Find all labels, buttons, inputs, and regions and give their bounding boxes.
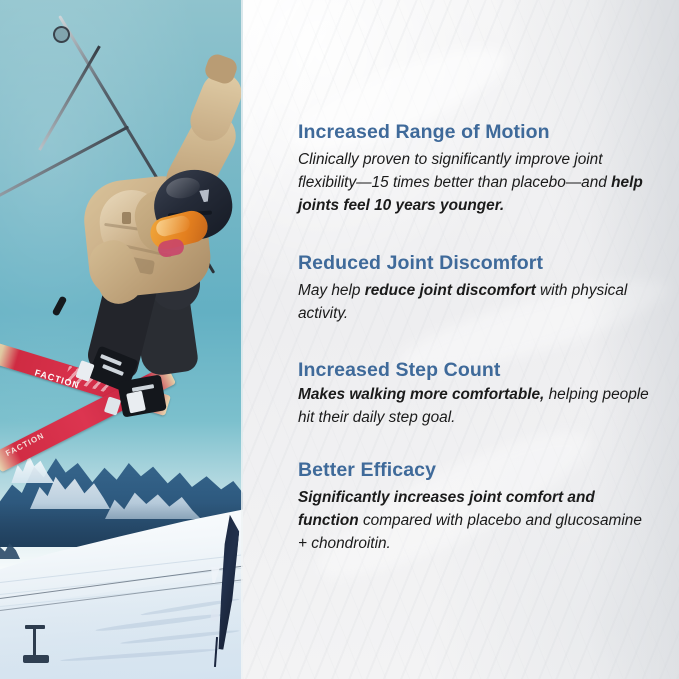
benefit-body: May help reduce joint discomfort with ph… [298,279,653,325]
benefit-line-1-bold: Significantly increases joint comfort an… [298,489,595,506]
skier-photo: FACTION FACTION [0,0,243,679]
benefit-line-1: Clinically proven to significantly impro… [298,151,603,168]
benefit-heading: Better Efficacy [298,458,653,482]
ski-pole-lower [38,45,101,150]
skier-figure: FACTION FACTION [0,0,243,500]
ski-pole-basket [51,24,73,46]
benefit-body: Significantly increases joint comfort an… [298,486,653,555]
benefit-heading: Reduced Joint Discomfort [298,251,653,275]
lift-pylon-base [23,655,49,663]
benefit-item-better-efficacy: Better Efficacy Significantly increases … [298,458,653,555]
banner-logo-mark [210,609,220,622]
benefit-line-2-bold: function [298,512,359,529]
lift-pylon [33,627,36,657]
benefits-panel: Increased Range of Motion Clinically pro… [243,0,679,679]
benefit-text-lead: May help [298,282,365,299]
benefit-text-tail: with [536,282,568,299]
benefit-body: Clinically proven to significantly impro… [298,148,653,217]
benefit-line-1-bold: Makes walking more comfortable, [298,386,544,403]
benefit-body: Makes walking more comfortable, helping … [298,383,653,429]
benefit-line-2-tail: compared with placebo and [359,512,552,529]
benefit-item-joint-discomfort: Reduced Joint Discomfort May help reduce… [298,251,653,325]
jacket-badge [122,212,131,224]
marketing-benefits-graphic: FACTION FACTION [0,0,679,679]
panel-edge-shading [589,0,679,679]
benefit-text-bold: reduce joint discomfort [365,282,536,299]
benefit-heading: Increased Range of Motion [298,120,653,144]
benefit-heading: Increased Step Count [298,358,653,382]
benefit-item-step-count: Increased Step Count Makes walking more … [298,358,653,429]
ski-pole-grip [52,296,68,317]
benefit-item-range-of-motion: Increased Range of Motion Clinically pro… [298,120,653,217]
benefit-line-2: flexibility—15 times better than placebo… [298,174,607,191]
